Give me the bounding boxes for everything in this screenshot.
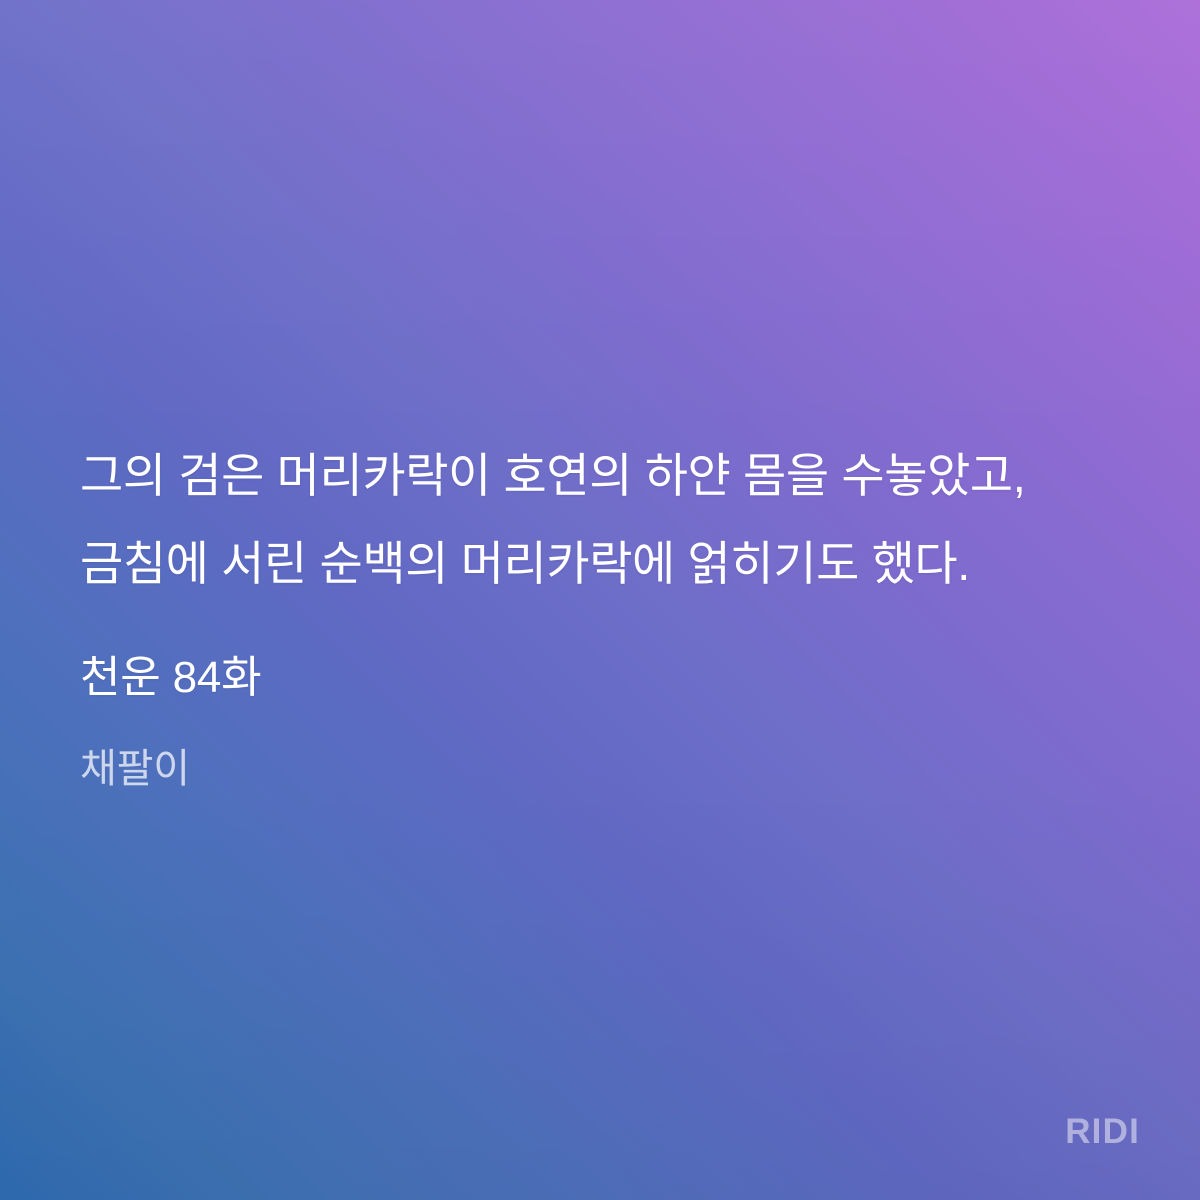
content-block: 그의 검은 머리카락이 호연의 하얀 몸을 수놓았고, 금침에 서린 순백의 머…: [80, 432, 1128, 795]
ridi-logo: RIDI: [1065, 1114, 1140, 1149]
meta-block: 천운 84화 채팔이: [80, 650, 1128, 795]
quote-card: 그의 검은 머리카락이 호연의 하얀 몸을 수놓았고, 금침에 서린 순백의 머…: [0, 0, 1200, 1200]
book-author: 채팔이: [80, 743, 1128, 795]
quote-text: 그의 검은 머리카락이 호연의 하얀 몸을 수놓았고, 금침에 서린 순백의 머…: [80, 432, 1128, 608]
book-title: 천운 84화: [80, 650, 1128, 706]
